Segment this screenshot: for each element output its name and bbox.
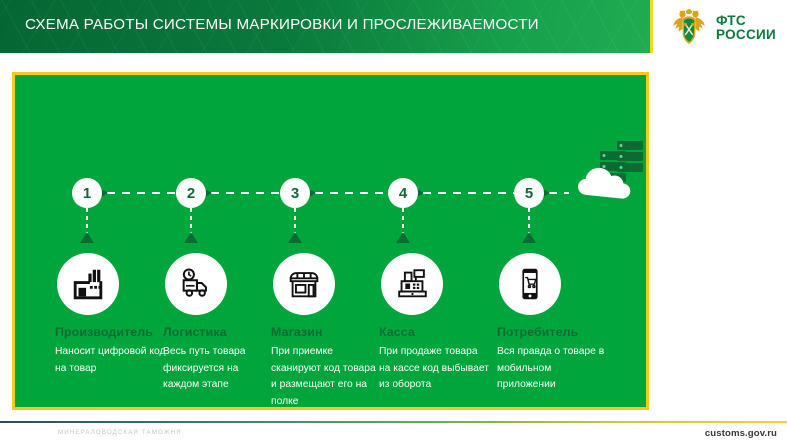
step-dropline: [190, 208, 192, 234]
russian-double-headed-eagle-emblem-icon: [668, 7, 710, 49]
step-marker-2[interactable]: 2: [176, 178, 206, 208]
step-number-badge: 4: [388, 178, 418, 208]
step-pointer-triangle-icon: [396, 232, 410, 243]
step-pointer-triangle-icon: [288, 232, 302, 243]
logo-line-2: РОССИИ: [716, 28, 776, 42]
step-card-5[interactable]: Потребитель Вся правда о товаре в мобиль…: [497, 253, 615, 394]
diagram-panel: 1 2 3 4 5: [12, 72, 649, 410]
flow-timeline: 1 2 3 4 5: [15, 75, 646, 245]
step-description: При продаже товара на кассе код выбывает…: [379, 344, 491, 394]
step-marker-3[interactable]: 3: [280, 178, 310, 208]
connector-5-cloud: [549, 192, 569, 194]
step-dropline: [86, 208, 88, 234]
step-marker-5[interactable]: 5: [514, 178, 544, 208]
step-description: При приемке сканируют код товара и разме…: [271, 344, 383, 411]
step-title: Магазин: [271, 325, 389, 339]
step-number-badge: 1: [72, 178, 102, 208]
step-card-3[interactable]: Магазин При приемке сканируют код товара…: [271, 253, 389, 411]
step-dropline: [402, 208, 404, 234]
step-title: Логистика: [163, 325, 281, 339]
header-yellow-edge: [650, 0, 653, 53]
store-shop-icon: [273, 253, 335, 315]
footer-divider: [0, 421, 787, 423]
logo-text: ФТС РОССИИ: [716, 14, 776, 42]
step-description: Наносит цифровой код на товар: [55, 344, 167, 377]
cash-register-icon: [381, 253, 443, 315]
step-marker-1[interactable]: 1: [72, 178, 102, 208]
factory-icon: [57, 253, 119, 315]
footer-website-url[interactable]: customs.gov.ru: [705, 428, 777, 439]
connector-1-2: [107, 192, 185, 194]
step-description: Весь путь товара фиксируется на каждом э…: [163, 344, 275, 394]
step-marker-4[interactable]: 4: [388, 178, 418, 208]
step-title: Производитель: [55, 325, 173, 339]
header-bar: СХЕМА РАБОТЫ СИСТЕМЫ МАРКИРОВКИ И ПРОСЛЕ…: [0, 0, 650, 53]
connector-2-3: [211, 192, 289, 194]
logo-line-1: ФТС: [716, 14, 776, 28]
step-dropline: [294, 208, 296, 234]
step-pointer-triangle-icon: [522, 232, 536, 243]
step-dropline: [528, 208, 530, 234]
connector-4-5: [423, 192, 515, 194]
smartphone-shopping-cart-icon: [499, 253, 561, 315]
step-card-2[interactable]: Логистика Весь путь товара фиксируется н…: [163, 253, 281, 394]
step-card-4[interactable]: Касса При продаже товара на кассе код вы…: [379, 253, 497, 394]
cloud-server-storage-icon: [567, 137, 647, 207]
connector-3-4: [315, 192, 397, 194]
step-number-badge: 2: [176, 178, 206, 208]
step-description: Вся правда о товаре в мобильном приложен…: [497, 344, 609, 394]
delivery-truck-icon: [165, 253, 227, 315]
step-title: Касса: [379, 325, 497, 339]
step-pointer-triangle-icon: [184, 232, 198, 243]
step-title: Потребитель: [497, 325, 615, 339]
step-pointer-triangle-icon: [80, 232, 94, 243]
footer-organization-label: МИНЕРАЛОВОДСКАЯ ТАМОЖНЯ: [58, 429, 182, 436]
step-number-badge: 3: [280, 178, 310, 208]
step-card-1[interactable]: Производитель Наносит цифровой код на то…: [55, 253, 173, 377]
step-number-badge: 5: [514, 178, 544, 208]
page-title: СХЕМА РАБОТЫ СИСТЕМЫ МАРКИРОВКИ И ПРОСЛЕ…: [25, 16, 539, 33]
ftc-russia-logo: ФТС РОССИИ: [668, 6, 780, 50]
